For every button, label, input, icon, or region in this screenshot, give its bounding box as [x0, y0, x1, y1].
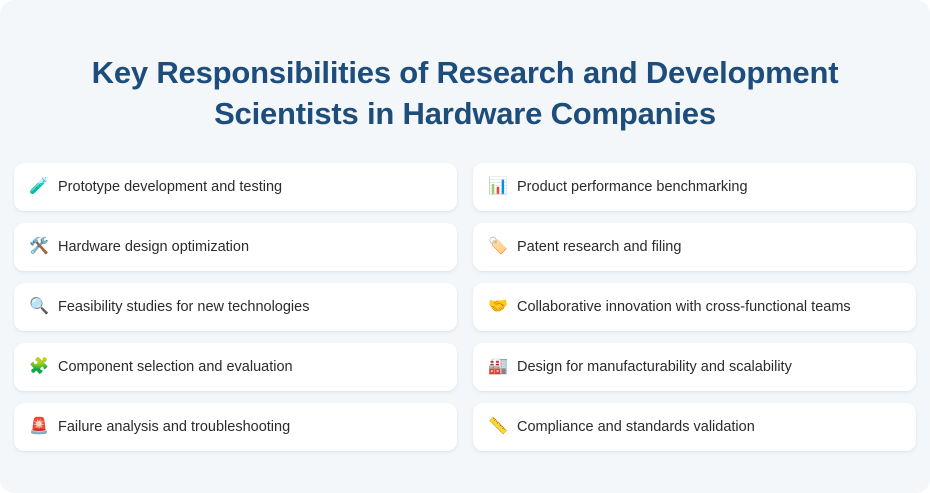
responsibility-card[interactable]: 🏷️Patent research and filing [473, 223, 916, 271]
responsibility-card[interactable]: 🛠️Hardware design optimization [14, 223, 457, 271]
responsibility-label: Product performance benchmarking [517, 177, 902, 197]
bar-chart-icon: 📊 [487, 176, 509, 198]
infographic-page: Key Responsibilities of Research and Dev… [0, 0, 930, 493]
responsibility-card[interactable]: 🏭Design for manufacturability and scalab… [473, 343, 916, 391]
responsibility-card[interactable]: 🤝Collaborative innovation with cross-fun… [473, 283, 916, 331]
responsibility-card[interactable]: 🧪Prototype development and testing [14, 163, 457, 211]
responsibility-card[interactable]: 📊Product performance benchmarking [473, 163, 916, 211]
hammer-and-wrench-icon: 🛠️ [28, 236, 50, 258]
responsibilities-grid: 🧪Prototype development and testing📊Produ… [14, 163, 916, 451]
handshake-icon: 🤝 [487, 296, 509, 318]
responsibility-label: Collaborative innovation with cross-func… [517, 297, 902, 317]
rotating-light-icon: 🚨 [28, 416, 50, 438]
puzzle-piece-icon: 🧩 [28, 356, 50, 378]
responsibility-label: Failure analysis and troubleshooting [58, 417, 443, 437]
responsibility-label: Compliance and standards validation [517, 417, 902, 437]
test-tube-icon: 🧪 [28, 176, 50, 198]
responsibility-card[interactable]: 🧩Component selection and evaluation [14, 343, 457, 391]
responsibility-card[interactable]: 🔍Feasibility studies for new technologie… [14, 283, 457, 331]
label-tag-icon: 🏷️ [487, 236, 509, 258]
responsibility-label: Hardware design optimization [58, 237, 443, 257]
responsibility-card[interactable]: 🚨Failure analysis and troubleshooting [14, 403, 457, 451]
factory-icon: 🏭 [487, 356, 509, 378]
responsibility-label: Component selection and evaluation [58, 357, 443, 377]
responsibility-card[interactable]: 📏Compliance and standards validation [473, 403, 916, 451]
magnifying-glass-icon: 🔍 [28, 296, 50, 318]
responsibility-label: Prototype development and testing [58, 177, 443, 197]
straight-ruler-icon: 📏 [487, 416, 509, 438]
responsibility-label: Design for manufacturability and scalabi… [517, 357, 902, 377]
responsibility-label: Patent research and filing [517, 237, 902, 257]
responsibility-label: Feasibility studies for new technologies [58, 297, 443, 317]
page-title: Key Responsibilities of Research and Dev… [0, 0, 930, 134]
